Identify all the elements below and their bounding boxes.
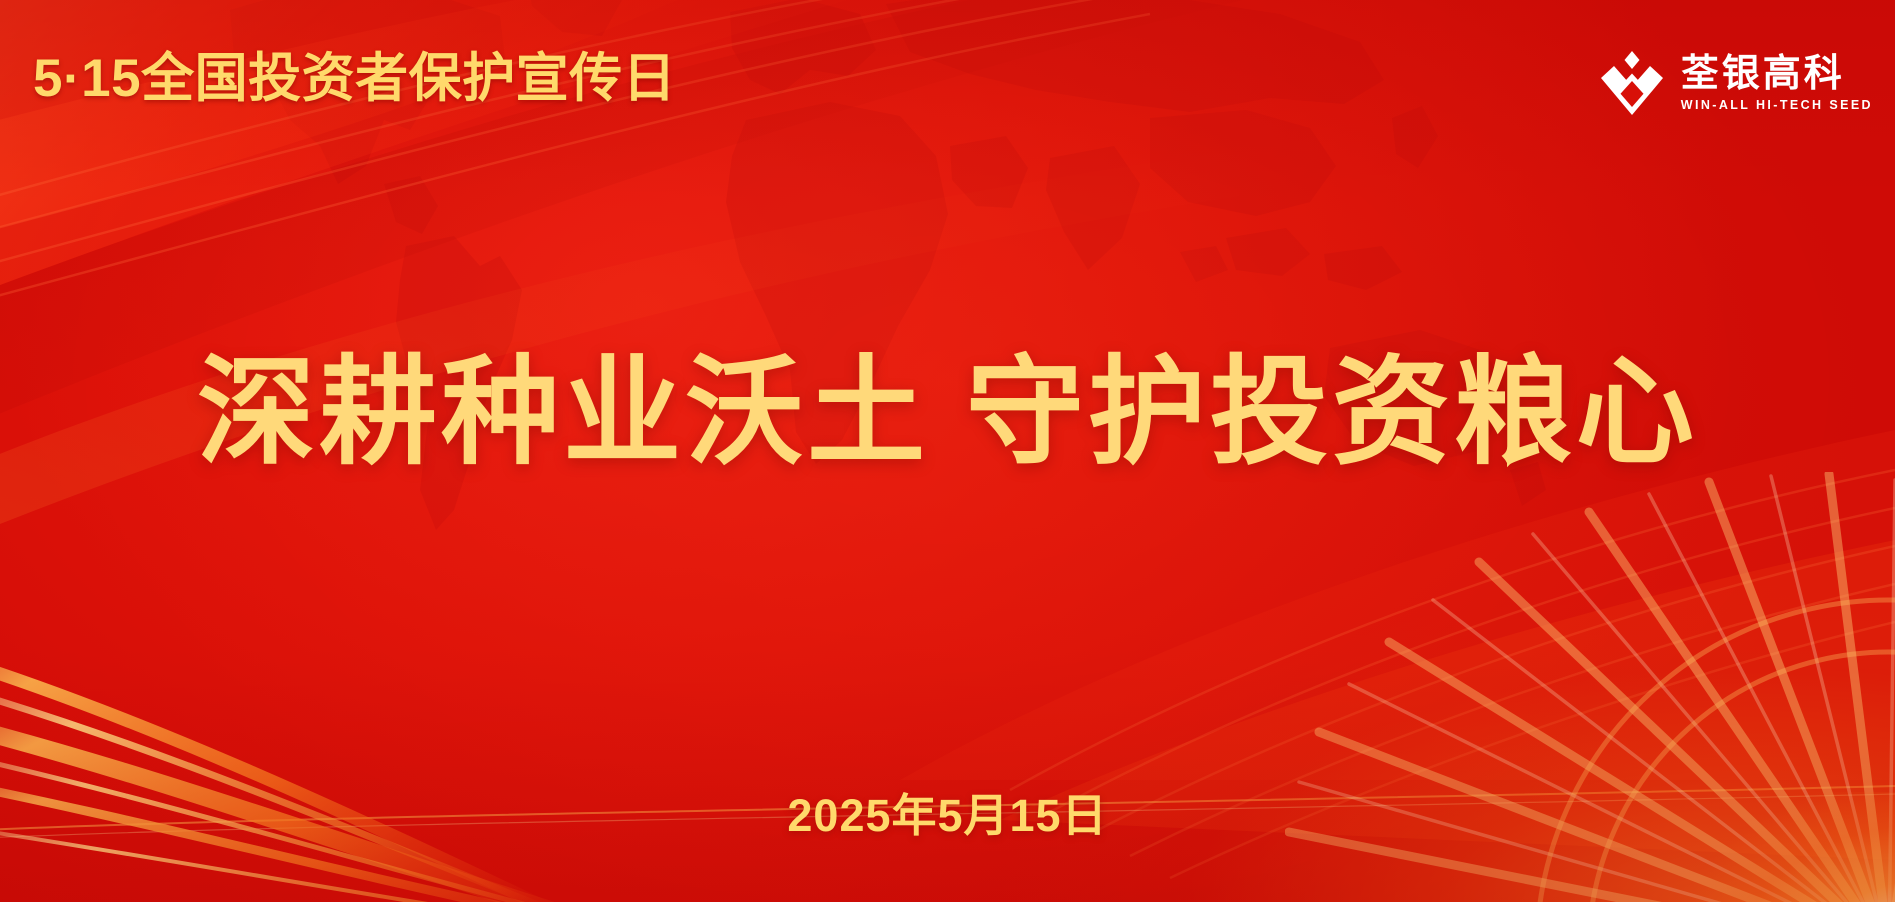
logo-name-en: WIN-ALL HI-TECH SEED xyxy=(1681,99,1873,113)
logo-name-cn: 荃银高科 xyxy=(1681,54,1873,95)
winall-chevron-icon xyxy=(1598,48,1666,118)
event-date: 2025年5月15日 xyxy=(0,793,1895,838)
investor-protection-banner: 5·15全国投资者保护宣传日 荃银高科 WIN-ALL xyxy=(0,0,1895,902)
main-headline: 深耕种业沃土 守护投资粮心 xyxy=(0,352,1895,476)
logo-text-block: 荃银高科 WIN-ALL HI-TECH SEED xyxy=(1681,54,1873,113)
campaign-label: 5·15全国投资者保护宣传日 xyxy=(33,52,676,105)
company-logo: 荃银高科 WIN-ALL HI-TECH SEED xyxy=(1598,48,1873,118)
